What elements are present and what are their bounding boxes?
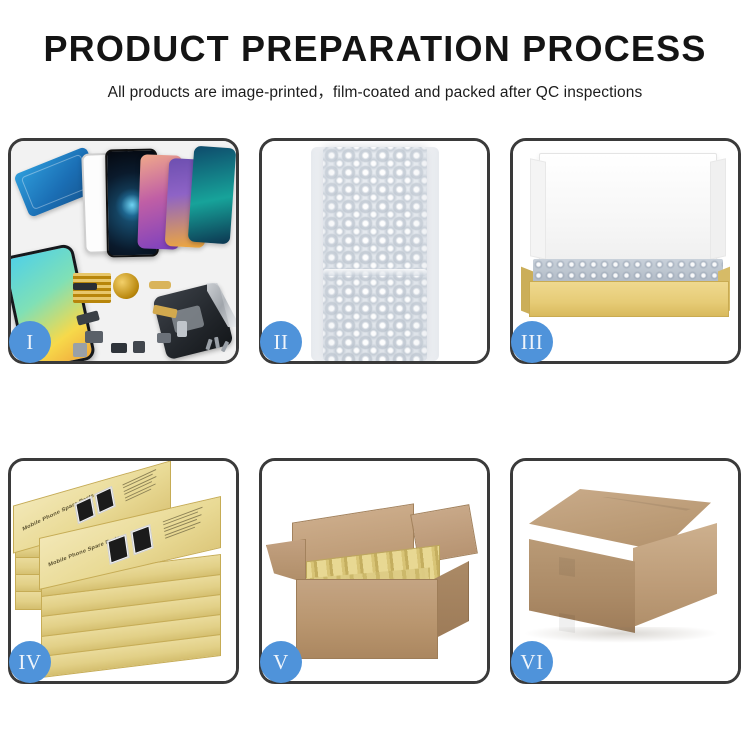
- part-sim-tray: [177, 321, 187, 337]
- part-chip: [133, 341, 145, 353]
- sealed-carton-front: [529, 539, 635, 633]
- screws-group: [207, 337, 233, 355]
- product-preparation-infographic: PRODUCT PREPARATION PROCESS All products…: [0, 0, 750, 750]
- step-badge-1: I: [9, 321, 51, 363]
- carton-front-panel: [296, 579, 438, 659]
- part-flex-gold: [149, 281, 171, 289]
- box-text-lines-back: [123, 468, 162, 503]
- step-badge-6: VI: [511, 641, 553, 683]
- part-bar: [73, 283, 97, 290]
- box-phone-image-front-2: [130, 524, 153, 555]
- page-subtitle: All products are image-printed，film-coat…: [0, 80, 750, 102]
- sealed-carton-shadow: [523, 627, 719, 643]
- part-flex-dark: [76, 310, 100, 325]
- step-badge-2: II: [260, 321, 302, 363]
- box-text-lines-front: [163, 506, 207, 541]
- part-camera: [85, 331, 103, 343]
- process-step-1: I: [8, 138, 239, 364]
- step-badge-3: III: [511, 321, 553, 363]
- part-bracket: [157, 333, 171, 343]
- bubble-wrap-seam: [323, 269, 427, 276]
- phone-teal: [188, 146, 236, 245]
- spare-parts-group: [73, 273, 193, 359]
- box-phone-image-back-2: [94, 486, 116, 515]
- part-flex-gold-2: [152, 305, 177, 319]
- part-coil: [113, 273, 139, 299]
- part-speaker: [111, 343, 127, 353]
- process-step-3: III: [510, 138, 741, 364]
- box-front-panel: [529, 281, 729, 317]
- bubble-wrap-sheet: [323, 147, 427, 361]
- step-badge-5: V: [260, 641, 302, 683]
- carton-flap-left: [266, 539, 306, 583]
- box-lid-open: [539, 153, 717, 271]
- process-step-2: II: [259, 138, 490, 364]
- part-button: [73, 343, 87, 357]
- header: PRODUCT PREPARATION PROCESS All products…: [0, 0, 750, 102]
- page-title: PRODUCT PREPARATION PROCESS: [0, 30, 750, 68]
- process-grid: I II III: [8, 138, 742, 684]
- process-step-6: VI: [510, 458, 741, 684]
- process-step-5: V: [259, 458, 490, 684]
- process-step-4: Mobile Phone Spare Parts Mobile Phone Sp…: [8, 458, 239, 684]
- sealed-carton-tab-upper: [559, 557, 575, 577]
- step-badge-4: IV: [9, 641, 51, 683]
